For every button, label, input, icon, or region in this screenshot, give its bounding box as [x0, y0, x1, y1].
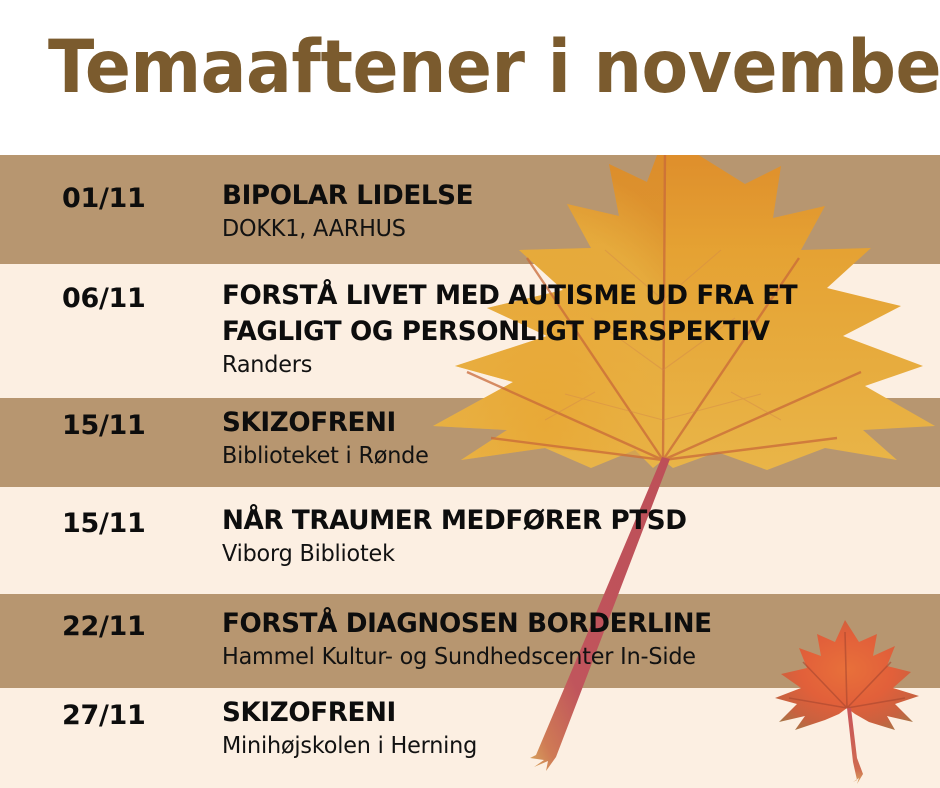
event-body: FORSTÅ DIAGNOSEN BORDERLINEHammel Kultur… — [222, 606, 930, 673]
event-venue: Hammel Kultur- og Sundhedscenter In-Side — [222, 642, 909, 673]
page-title: Temaaftener i november — [48, 26, 940, 110]
event-date: 22/11 — [62, 611, 202, 642]
event-title: SKIZOFRENI — [222, 695, 909, 731]
event-title: SKIZOFRENI — [222, 405, 909, 441]
event-title: FORSTÅ DIAGNOSEN BORDERLINE — [222, 606, 909, 642]
event-date: 06/11 — [62, 283, 202, 314]
event-title: NÅR TRAUMER MEDFØRER PTSD — [222, 503, 909, 539]
event-venue: Randers — [222, 350, 909, 381]
event-body: BIPOLAR LIDELSEDOKK1, AARHUS — [222, 178, 930, 245]
event-body: SKIZOFRENIBiblioteket i Rønde — [222, 405, 930, 472]
event-venue: Viborg Bibliotek — [222, 539, 909, 570]
event-body: SKIZOFRENIMinihøjskolen i Herning — [222, 695, 930, 762]
event-venue: Minihøjskolen i Herning — [222, 731, 909, 762]
event-date: 15/11 — [62, 410, 202, 441]
event-title: BIPOLAR LIDELSE — [222, 178, 909, 214]
event-body: NÅR TRAUMER MEDFØRER PTSDViborg Bibliote… — [222, 503, 930, 570]
event-title: FORSTÅ LIVET MED AUTISME UD FRA ET FAGLI… — [222, 278, 909, 350]
event-date: 15/11 — [62, 508, 202, 539]
event-body: FORSTÅ LIVET MED AUTISME UD FRA ET FAGLI… — [222, 278, 930, 381]
event-venue: Biblioteket i Rønde — [222, 441, 909, 472]
event-date: 27/11 — [62, 700, 202, 731]
event-date: 01/11 — [62, 183, 202, 214]
poster-canvas: Temaaftener i november 01/11BIPOLAR LIDE… — [0, 0, 940, 788]
poster-header: Temaaftener i november — [0, 0, 940, 155]
event-venue: DOKK1, AARHUS — [222, 214, 909, 245]
